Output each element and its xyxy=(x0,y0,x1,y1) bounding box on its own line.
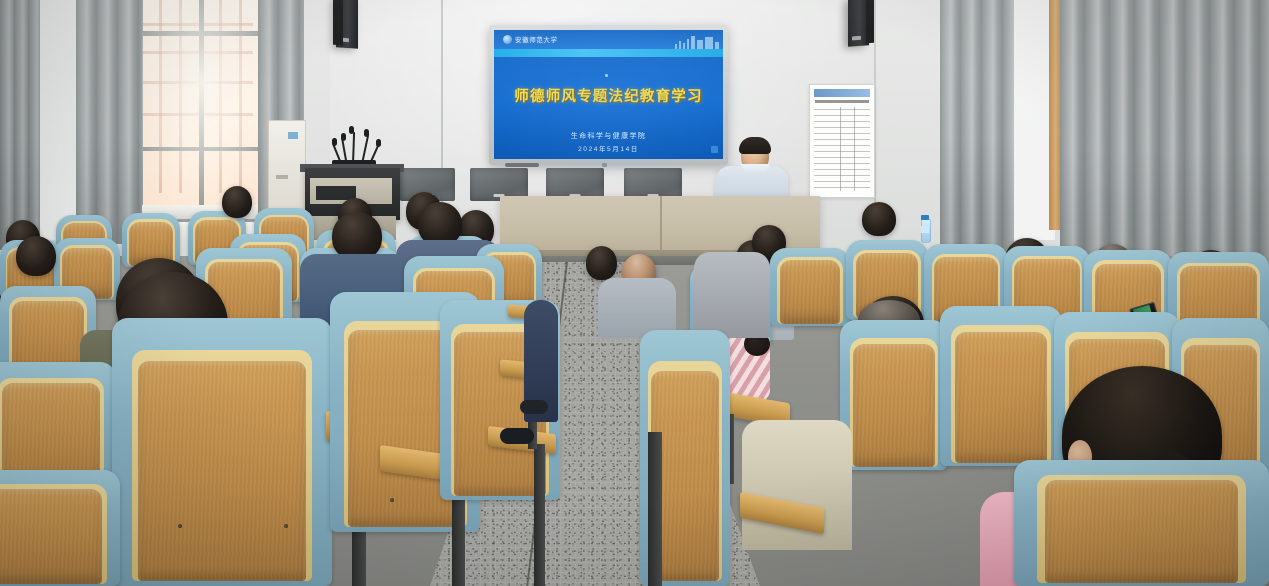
window-mullion-horizontal xyxy=(143,31,265,36)
attendee-shoe xyxy=(520,400,548,414)
seat[interactable] xyxy=(0,470,120,586)
attendee-head xyxy=(586,246,617,280)
slide-subtitle-date: 2024年5月14日 xyxy=(494,143,723,153)
microphone-head-icon xyxy=(376,139,381,147)
presentation-screen[interactable]: 安徽师范大学 师德师风专题法纪教育学习 生命科学与健康学院 2024年5月14日 xyxy=(494,30,723,159)
display-control-strip[interactable] xyxy=(505,163,539,167)
attendee-head xyxy=(332,212,382,260)
curtain-mid-left xyxy=(76,0,142,244)
presenter-hair xyxy=(739,137,771,154)
university-name: 安徽师范大学 xyxy=(515,34,558,44)
cabinet-sticker xyxy=(288,132,298,139)
curtain-far-left xyxy=(0,0,40,250)
cabinet-handle[interactable] xyxy=(276,175,288,179)
seat[interactable] xyxy=(112,318,332,586)
microphone-head-icon xyxy=(364,129,369,137)
attendee-khaki-jacket xyxy=(742,420,852,550)
slide-decor-graphic xyxy=(667,32,719,49)
curtain-right-inner xyxy=(940,0,1014,252)
lecture-hall-photo: 安徽师范大学 师德师风专题法纪教育学习 生命科学与健康学院 2024年5月14日 xyxy=(0,0,1269,586)
slide-subtitle-org: 生命科学与健康学院 xyxy=(494,131,723,141)
attendee-shoe xyxy=(500,428,534,444)
attendee-head xyxy=(222,186,252,218)
slide-accent-band xyxy=(494,49,723,57)
attendee-head xyxy=(16,236,56,276)
window-frame xyxy=(140,0,268,222)
logo-mark-icon xyxy=(503,35,512,44)
microphone-head-icon xyxy=(349,126,354,134)
attendee-gray-shirt xyxy=(694,252,770,338)
exterior-brick-building xyxy=(143,0,253,193)
screen-corner-indicator xyxy=(711,146,718,153)
microphone-head-icon xyxy=(332,138,337,146)
seat[interactable] xyxy=(940,306,1062,466)
attendee-torso xyxy=(598,278,676,338)
wall-schedule-poster xyxy=(809,84,875,198)
curtain-right-outer xyxy=(1060,0,1269,268)
bottle-cap xyxy=(921,215,929,220)
loudspeaker-right-side xyxy=(866,0,874,43)
window-mullion-lower xyxy=(143,147,265,151)
armrest-post xyxy=(534,444,545,586)
microphone-head-icon xyxy=(341,133,346,141)
display-power-led-icon xyxy=(602,163,607,167)
loudspeaker-left-side xyxy=(333,0,343,45)
attendee-head xyxy=(862,202,896,236)
seat[interactable] xyxy=(1014,460,1269,586)
seat[interactable] xyxy=(840,320,948,470)
slide-bullet-dot xyxy=(605,74,608,77)
front-desk-seam xyxy=(660,196,662,252)
seat[interactable] xyxy=(770,248,850,326)
slide-title: 师德师风专题法纪教育学习 xyxy=(494,85,723,106)
bottle-label xyxy=(921,226,929,233)
armrest-post xyxy=(648,432,662,586)
university-logo: 安徽师范大学 xyxy=(503,34,558,44)
